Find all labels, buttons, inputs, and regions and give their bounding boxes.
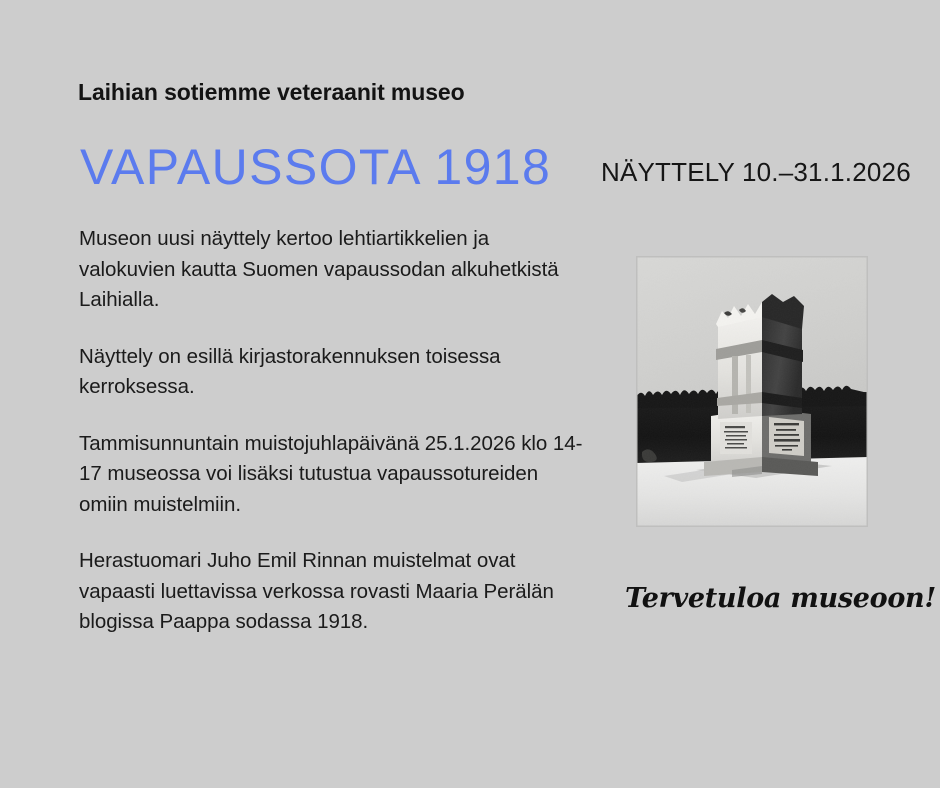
paragraph-blog: Herastuomari Juho Emil Rinnan muistelmat…: [79, 546, 589, 638]
monument-photo: [636, 256, 868, 527]
paragraph-intro: Museon uusi näyttely kertoo lehtiartikke…: [79, 224, 589, 316]
poster-canvas: Laihian sotiemme veteraanit museo VAPAUS…: [0, 0, 940, 788]
page-title: VAPAUSSOTA 1918: [80, 142, 551, 192]
paragraph-location: Näyttely on esillä kirjastorakennuksen t…: [79, 342, 589, 403]
monument-photo-graphic: [636, 256, 868, 527]
exhibition-dates: NÄYTTELY 10.–31.1.2026: [601, 157, 911, 188]
paragraph-event: Tammisunnuntain muistojuhlapäivänä 25.1.…: [79, 429, 589, 521]
welcome-note: Tervetuloa museoon!: [625, 583, 936, 614]
organization-title: Laihian sotiemme veteraanit museo: [78, 79, 465, 106]
body-copy: Museon uusi näyttely kertoo lehtiartikke…: [79, 224, 589, 638]
